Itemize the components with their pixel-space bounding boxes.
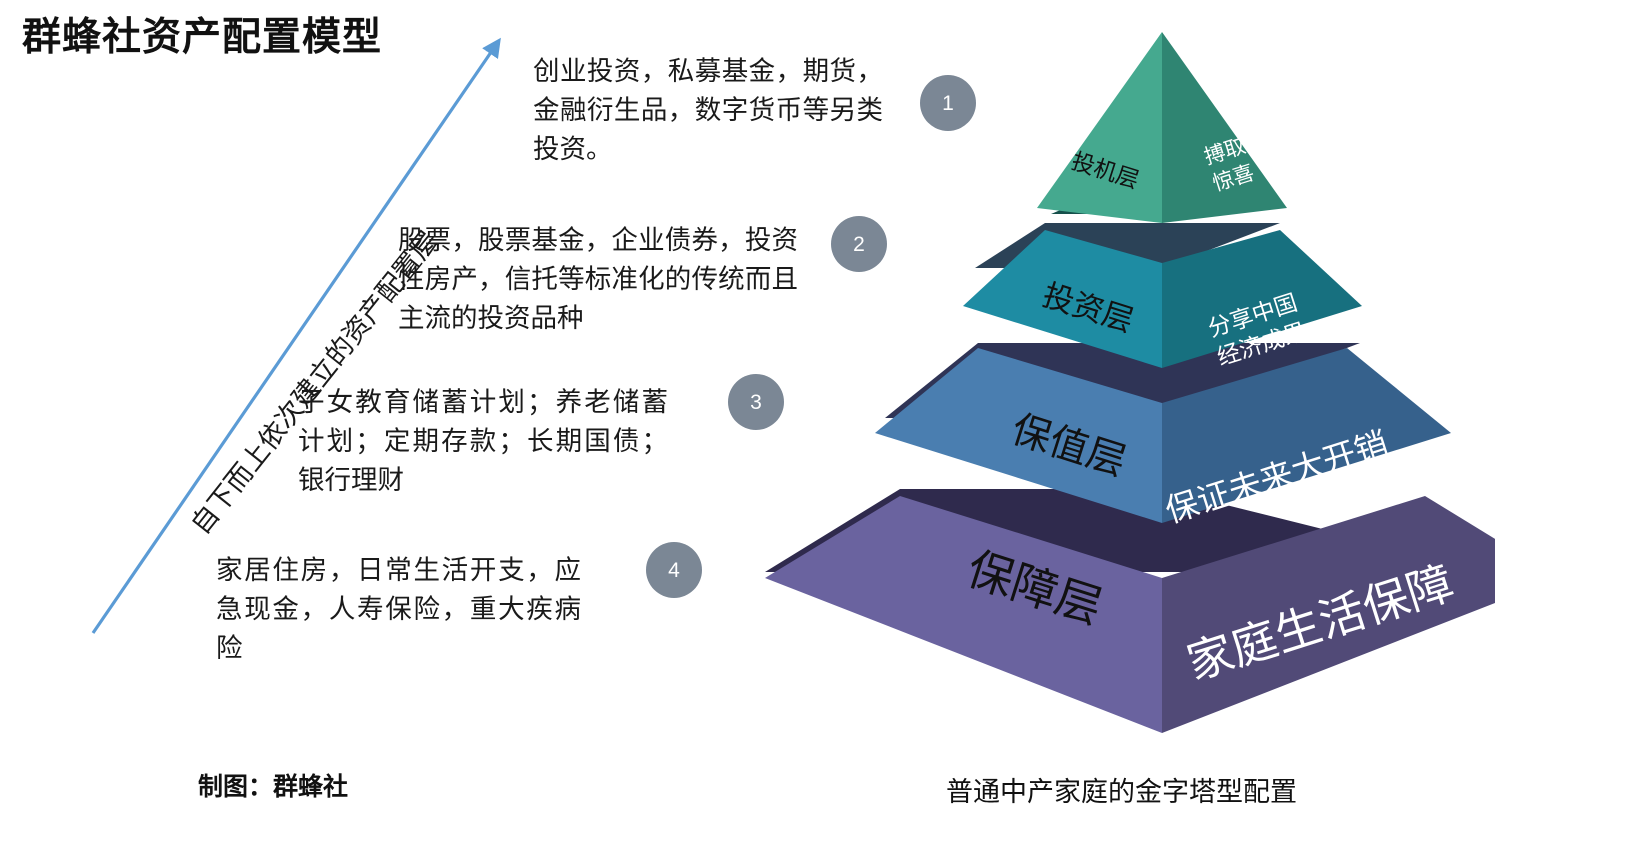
pyramid-level-protection[interactable]: 保障层 家庭生活保障 xyxy=(765,489,1495,733)
description-preservation: 子女教育储蓄计划；养老储蓄计划；定期存款；长期国债；银行理财 xyxy=(298,383,668,501)
credit-caption: 制图：群蜂社 xyxy=(198,767,348,803)
slide-canvas: 群蜂社资产配置模型 自下而上依次建立的资产配置层 创业投资，私募基金，期货，金融… xyxy=(0,0,1643,863)
pyramid-diagram: 保障层 家庭生活保障 保值层 保证未来大开销 投资层 分享中国经济成果 投机层 … xyxy=(735,18,1495,763)
pyramid-caption: 普通中产家庭的金字塔型配置 xyxy=(946,770,1297,809)
level-1-right-face xyxy=(1162,32,1287,223)
page-title: 群蜂社资产配置模型 xyxy=(22,6,382,62)
level-1-left-face xyxy=(1037,32,1162,223)
pyramid-level-speculation[interactable]: 投机层 搏取惊喜 xyxy=(1037,32,1287,223)
step-badge-4[interactable]: 4 xyxy=(646,542,702,598)
description-protection: 家居住房，日常生活开支，应急现金，人寿保险，重大疾病险 xyxy=(216,551,581,669)
